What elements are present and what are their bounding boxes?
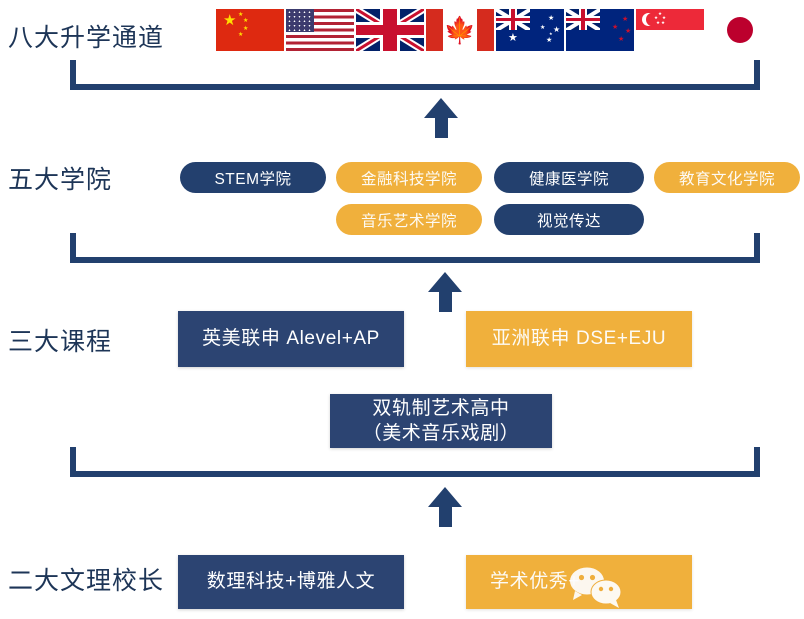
principal-box-academic-excellence[interactable]: 学术优秀+ — [466, 555, 692, 609]
china-flag: ★★ ★★ — [216, 9, 284, 51]
college-pill-fintech[interactable]: 金融科技学院 — [336, 162, 482, 193]
row-label-pathways: 八大升学通道 — [8, 18, 178, 54]
japan-flag — [706, 9, 774, 51]
college-pill-visual-communication[interactable]: 视觉传达 — [494, 204, 644, 235]
arrow-up-icon-to-pathways — [424, 98, 458, 138]
new-zealand-flag: ★★ ★★ — [566, 9, 634, 51]
dual-track-line-1: 双轨制艺术高中 — [372, 396, 509, 421]
flag-row: ★★ ★★ 🍁 ★ ★★ ★★ ★ — [216, 8, 788, 52]
course-box-uk-us[interactable]: 英美联申 Alevel+AP — [178, 311, 404, 367]
principal-box-science-liberal-arts[interactable]: 数理科技+博雅人文 — [178, 555, 404, 609]
college-pill-education[interactable]: 教育文化学院 — [654, 162, 800, 193]
uk-flag — [356, 9, 424, 51]
usa-flag — [286, 9, 354, 51]
arrow-up-icon-to-colleges — [428, 272, 462, 312]
college-pill-health[interactable]: 健康医学院 — [494, 162, 644, 193]
dual-track-line-2: （美术音乐戏剧） — [363, 421, 520, 446]
bracket-pathways — [70, 60, 760, 90]
bracket-colleges — [70, 233, 760, 263]
bracket-courses — [70, 447, 760, 477]
diagram-canvas: 八大升学通道 五大学院 三大课程 二大文理校长 ★★ ★★ 🍁 ★ — [0, 0, 804, 619]
singapore-flag: ★★ ★★ ★ — [636, 9, 704, 51]
college-pill-stem[interactable]: STEM学院 — [180, 162, 326, 193]
course-box-dual-track-art[interactable]: 双轨制艺术高中 （美术音乐戏剧） — [330, 394, 552, 448]
row-label-principals: 二大文理校长 — [8, 561, 178, 597]
arrow-up-icon-to-courses — [428, 487, 462, 527]
course-box-asia[interactable]: 亚洲联申 DSE+EJU — [466, 311, 692, 367]
college-pill-music-art[interactable]: 音乐艺术学院 — [336, 204, 482, 235]
australia-flag: ★ ★★ ★★ ★ — [496, 9, 564, 51]
row-label-courses: 三大课程 — [8, 322, 178, 358]
canada-flag: 🍁 — [426, 9, 494, 51]
row-label-colleges: 五大学院 — [8, 160, 178, 196]
